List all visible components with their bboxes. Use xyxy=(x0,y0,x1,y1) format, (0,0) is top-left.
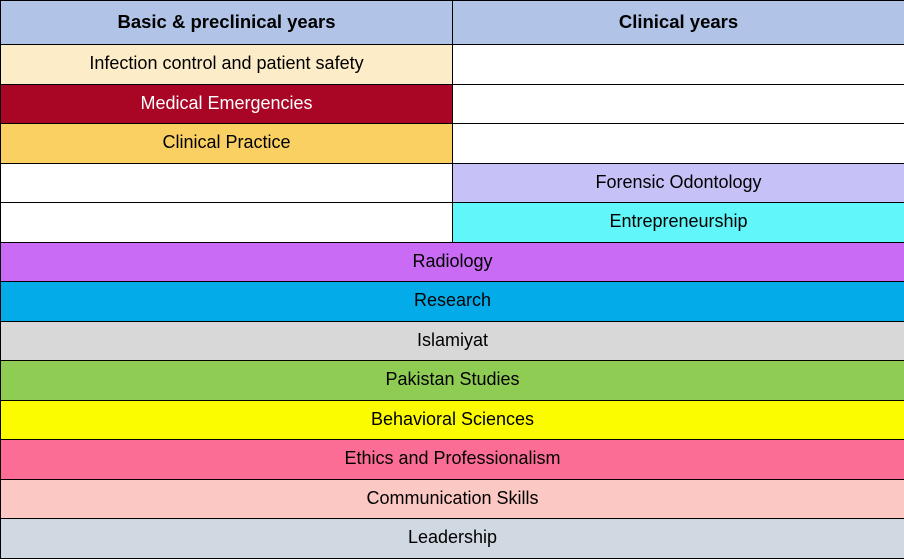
table-body: Infection control and patient safetyMedi… xyxy=(1,45,904,559)
table-row: Medical Emergencies xyxy=(1,84,904,124)
cell-pakistan-studies: Pakistan Studies xyxy=(1,361,904,401)
cell-medical-emergencies-basic: Medical Emergencies xyxy=(1,84,453,124)
table-row: Ethics and Professionalism xyxy=(1,440,904,480)
table-row: Entrepreneurship xyxy=(1,203,904,243)
table-header: Basic & preclinical years Clinical years xyxy=(1,1,904,45)
table-row: Communication Skills xyxy=(1,479,904,519)
table-row: Islamiyat xyxy=(1,321,904,361)
table-row: Radiology xyxy=(1,242,904,282)
table-row: Infection control and patient safety xyxy=(1,45,904,85)
cell-research: Research xyxy=(1,282,904,322)
cell-empty-forensic-odontology-basic xyxy=(1,163,453,203)
cell-leadership: Leadership xyxy=(1,519,904,559)
table-row: Clinical Practice xyxy=(1,124,904,164)
cell-ethics-and-professionalism: Ethics and Professionalism xyxy=(1,440,904,480)
cell-clinical-practice-basic: Clinical Practice xyxy=(1,124,453,164)
table-row: Leadership xyxy=(1,519,904,559)
cell-behavioral-sciences: Behavioral Sciences xyxy=(1,400,904,440)
cell-empty-entrepreneurship-basic xyxy=(1,203,453,243)
cell-islamiyat: Islamiyat xyxy=(1,321,904,361)
table-row: Research xyxy=(1,282,904,322)
cell-forensic-odontology-clinical: Forensic Odontology xyxy=(453,163,904,203)
column-header-basic-preclinical-years: Basic & preclinical years xyxy=(1,1,453,45)
cell-empty-clinical-practice-clinical xyxy=(453,124,904,164)
cell-radiology: Radiology xyxy=(1,242,904,282)
table-row: Forensic Odontology xyxy=(1,163,904,203)
header-row: Basic & preclinical years Clinical years xyxy=(1,1,904,45)
table-row: Pakistan Studies xyxy=(1,361,904,401)
column-header-clinical-years: Clinical years xyxy=(453,1,904,45)
cell-empty-infection-control-clinical xyxy=(453,45,904,85)
curriculum-table: Basic & preclinical years Clinical years… xyxy=(0,0,904,559)
cell-entrepreneurship-clinical: Entrepreneurship xyxy=(453,203,904,243)
cell-communication-skills: Communication Skills xyxy=(1,479,904,519)
table-row: Behavioral Sciences xyxy=(1,400,904,440)
cell-empty-medical-emergencies-clinical xyxy=(453,84,904,124)
cell-infection-control-basic: Infection control and patient safety xyxy=(1,45,453,85)
